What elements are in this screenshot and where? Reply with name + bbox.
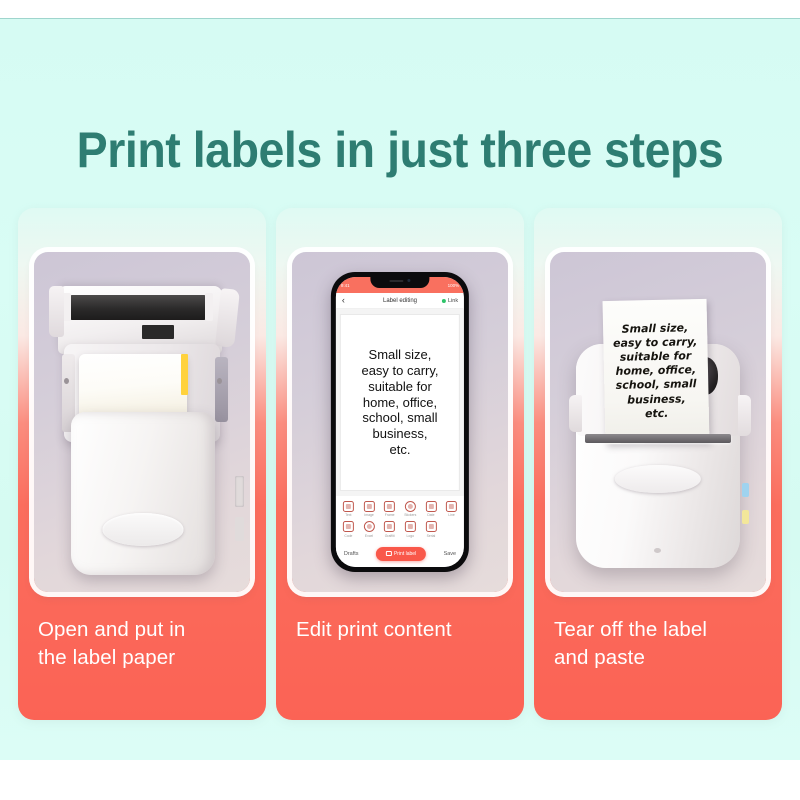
phone-screen: 9:41 100% ‹ Label ed: [336, 277, 464, 566]
printer-gear-right: [215, 357, 228, 422]
printer-side-button-top: [235, 476, 244, 507]
drafts-button[interactable]: Drafts: [344, 551, 359, 557]
print-label-button[interactable]: Print label: [376, 547, 426, 561]
save-button[interactable]: Save: [444, 551, 457, 557]
printer-hinge-left: [49, 286, 64, 337]
nav-title: Label editing: [365, 298, 435, 304]
printer-with-label-illustration: Small size, easy to carry, suitable for …: [550, 252, 766, 592]
printer-sensor-chip: [142, 325, 174, 339]
printer-roller: [69, 295, 207, 321]
top-white-strip: [0, 0, 800, 18]
tool-code-label: Code: [344, 534, 352, 538]
poster-root: Print labels in just three steps: [0, 0, 800, 800]
tool-serial-label: Serial: [427, 534, 436, 538]
indicator-blue: [742, 483, 748, 497]
indicator-yellow: [742, 510, 748, 524]
graffiti-icon: [384, 521, 395, 532]
printer-front-oval: [103, 513, 184, 546]
printer-side-button-bottom: [235, 517, 244, 541]
line-icon: [446, 501, 457, 512]
status-bar-right: 100%: [448, 283, 460, 288]
status-time: 9:41: [341, 283, 350, 288]
frame-icon: [384, 501, 395, 512]
serial-icon: [425, 521, 436, 532]
tool-serial[interactable]: Serial: [422, 521, 439, 538]
step-card-3[interactable]: Small size, easy to carry, suitable for …: [534, 208, 782, 720]
status-battery: 100%: [448, 283, 460, 288]
printed-label-text: Small size, easy to carry, suitable for …: [613, 321, 699, 421]
tool-frame-label: Frame: [385, 513, 395, 517]
step-2-image: 9:41 100% ‹ Label ed: [292, 252, 508, 592]
print-label-text: Print label: [394, 551, 416, 557]
image-icon: [364, 501, 375, 512]
tool-date-label: Date: [427, 513, 434, 517]
tool-text[interactable]: Text: [340, 501, 357, 518]
phone-action-bar: Drafts Print label Save: [336, 544, 464, 567]
logo-icon: [405, 521, 416, 532]
tool-stickers-label: Stickers: [404, 513, 416, 517]
tool-code[interactable]: Code: [340, 521, 357, 538]
tool-frame[interactable]: Frame: [381, 501, 398, 518]
date-icon: [425, 501, 436, 512]
earpiece-speaker-icon: [389, 280, 403, 282]
step-1-caption: Open and put in the label paper: [18, 592, 266, 671]
tool-image-label: Image: [364, 513, 373, 517]
tool-spacer: [443, 521, 460, 538]
link-label: Link: [448, 298, 458, 304]
text-icon: [343, 501, 354, 512]
step-2-caption: Edit print content: [276, 592, 524, 644]
tool-text-label: Text: [345, 513, 351, 517]
editor-toolbar: Text Image Frame Stickers Date Line Code…: [336, 496, 464, 544]
paper-exit-slot: [585, 434, 732, 443]
phone-nav-bar: ‹ Label editing Link: [336, 293, 464, 309]
sticker-icon: [405, 501, 416, 512]
phone-status-bar: 9:41 100%: [336, 277, 464, 293]
chevron-left-icon[interactable]: ‹: [342, 296, 365, 305]
tool-excel[interactable]: Excel: [361, 521, 378, 538]
front-camera-icon: [407, 279, 410, 282]
tool-stickers[interactable]: Stickers: [402, 501, 419, 518]
tool-line[interactable]: Line: [443, 501, 460, 518]
status-bar-left: 9:41: [341, 283, 350, 288]
page-title: Print labels in just three steps: [28, 124, 772, 176]
tool-date[interactable]: Date: [422, 501, 439, 518]
printer-body: [71, 412, 216, 575]
label-canvas[interactable]: Small size, easy to carry, suitable for …: [336, 309, 464, 495]
step-1-image: [34, 252, 250, 592]
label-preview-box[interactable]: Small size, easy to carry, suitable for …: [341, 315, 459, 489]
printer-front-oval: [615, 465, 701, 494]
yellow-tab: [181, 354, 188, 395]
phone-notch: [371, 277, 430, 288]
printer-side-grip-left: [569, 395, 582, 432]
printer-side-grip-right: [738, 395, 751, 436]
step-card-2[interactable]: 9:41 100% ‹ Label ed: [276, 208, 524, 720]
step-3-caption: Tear off the label and paste: [534, 592, 782, 671]
tool-excel-label: Excel: [365, 534, 373, 538]
tool-graffiti[interactable]: Graffiti: [381, 521, 398, 538]
phone-device: 9:41 100% ‹ Label ed: [331, 272, 469, 571]
step-card-1[interactable]: Open and put in the label paper: [18, 208, 266, 720]
open-printer-illustration: [34, 252, 250, 592]
label-text: Small size, easy to carry, suitable for …: [361, 347, 438, 458]
excel-icon: [364, 521, 375, 532]
screw-right: [217, 378, 222, 384]
tool-graffiti-label: Graffiti: [385, 534, 395, 538]
printer-icon: [386, 551, 392, 556]
link-status-dot-icon: [442, 299, 446, 303]
tool-logo[interactable]: Logo: [402, 521, 419, 538]
step-3-image: Small size, easy to carry, suitable for …: [550, 252, 766, 592]
printed-label-paper: Small size, easy to carry, suitable for …: [603, 299, 710, 444]
bottom-white-strip: [0, 760, 800, 800]
steps-row: Open and put in the label paper 9:41: [18, 208, 782, 720]
toolbar-row-2: Code Excel Graffiti Logo Serial: [340, 521, 460, 538]
tool-image[interactable]: Image: [361, 501, 378, 518]
roller-cap-right: [205, 293, 214, 320]
tool-line-label: Line: [448, 513, 454, 517]
qrcode-icon: [343, 521, 354, 532]
toolbar-row-1: Text Image Frame Stickers Date Line: [340, 501, 460, 518]
link-button[interactable]: Link: [435, 298, 458, 304]
tool-logo-label: Logo: [407, 534, 415, 538]
